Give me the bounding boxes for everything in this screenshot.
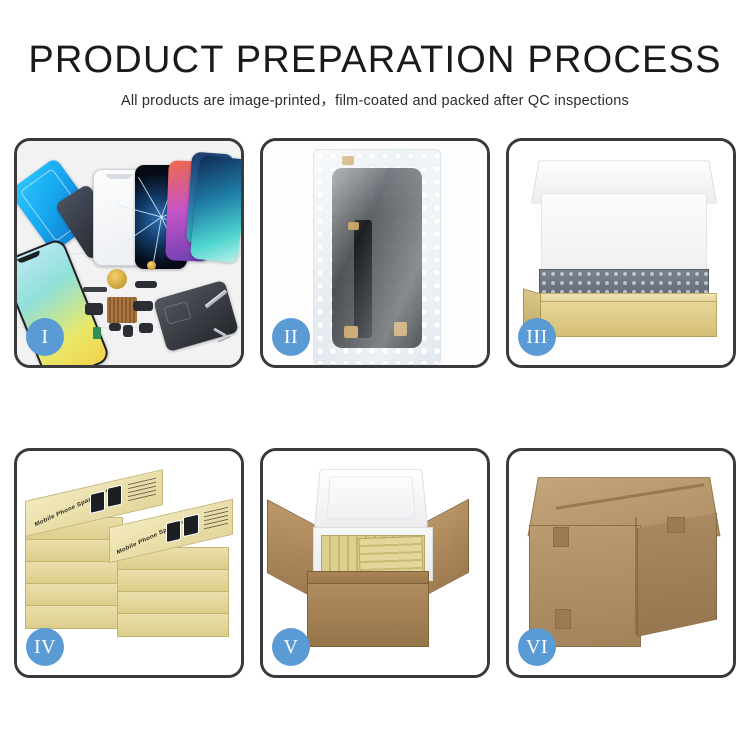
page-title: PRODUCT PREPARATION PROCESS [0,38,750,82]
step-badge-2: II [272,318,310,356]
step-badge-6: VI [518,628,556,666]
step-badge-3: III [518,318,556,356]
step-panel-3: III [506,138,736,368]
product-preparation-page: PRODUCT PREPARATION PROCESS All products… [0,0,750,750]
page-subtitle: All products are image-printed，film-coat… [0,89,750,110]
step-panel-2: II [260,138,490,368]
step-badge-1: I [26,318,64,356]
step-panel-4: Mobile Phone Spare Parts Mobile Phone Sp… [14,448,244,678]
step-badge-5: V [272,628,310,666]
step-badge-4: IV [26,628,64,666]
page-header: PRODUCT PREPARATION PROCESS All products… [0,38,750,110]
process-steps-grid: I II [14,138,736,678]
step-panel-1: I [14,138,244,368]
step-panel-6: VI [506,448,736,678]
step-panel-5: V [260,448,490,678]
